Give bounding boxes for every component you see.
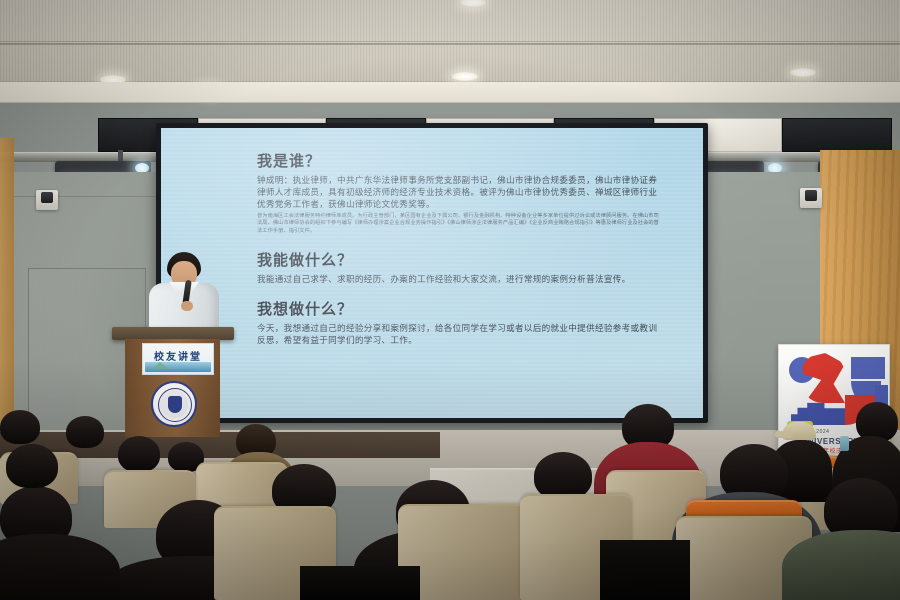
slide-heading-who-am-i: 我是谁？ (257, 150, 661, 171)
poster-anniversary-label: ANNIVERSARY (795, 437, 860, 446)
ceiling-seam (0, 43, 900, 44)
ceiling-acoustic-panel-upper (0, 0, 900, 42)
slide-body-what-can-i-do: 我能通过自己求学、求职的经历、办案的工作经验和大家交流，进行常规的案例分析普法宣… (257, 273, 661, 285)
projection-screen-frame: 我是谁？ 钟成明：执业律师，中共广东华法律师事务所党支部副书记，佛山市律协合规委… (156, 123, 708, 423)
auditorium-seat (214, 506, 336, 600)
slide-body-what-do-i-want: 今天，我想通过自己的经验分享和案例探讨，给各位同学在学习或者以后的就业中提供经验… (257, 322, 661, 346)
poster-tower-icon (875, 385, 888, 427)
audience-shoulders (782, 530, 900, 600)
audience-shoulders (108, 556, 284, 600)
presentation-slide: 我是谁？ 钟成明：执业律师，中共广东华法律师事务所党支部副书记，佛山市律协合规委… (161, 128, 703, 418)
poster-zh-label: 25周年校庆 (809, 446, 843, 455)
poster-years: 1999-2024 (801, 429, 829, 435)
lecture-hall-photo: 我是谁？ 钟成明：执业律师，中共广东华法律师事务所党支部副书记，佛山市律协合规委… (0, 0, 900, 600)
slide-heading-what-can-i-do: 我能做什么？ (257, 249, 661, 270)
university-seal-icon (151, 381, 197, 427)
wall-speaker-left (36, 190, 58, 210)
audience-shoulders (0, 534, 120, 600)
presenter-hand (181, 301, 193, 311)
slide-fineprint-who-am-i: 曾为南海区工会法律服务特约律师库成员。为行政主管部门、某区国有企业及下属公司、银… (257, 213, 661, 236)
podium-nameplate-graphic (145, 362, 211, 372)
projection-screen: 我是谁？ 钟成明：执业律师，中共广东华法律师事务所党支部副书记，佛山市律协合规委… (161, 128, 703, 418)
aisle-shadow (300, 566, 420, 600)
wall-speaker-right (800, 188, 822, 208)
ceiling-acoustic-panel-lower (0, 44, 900, 82)
podium-nameplate-text: 校友讲堂 (143, 348, 213, 363)
slide-body-who-am-i: 钟成明：执业律师，中共广东华法律师事务所党支部副书记，佛山市律协合规委委员，佛山… (257, 174, 661, 211)
speaker-grille (41, 192, 53, 203)
speaker-grille (805, 190, 817, 201)
ceiling-soffit (0, 82, 900, 103)
anniversary-poster: 1999-2024 ANNIVERSARY 25周年校庆 (778, 344, 890, 456)
seal-shield-icon (168, 396, 182, 413)
podium-body: 校友讲堂 (125, 339, 220, 437)
front-desk (430, 470, 660, 600)
poster-numeral-five-bowl (845, 395, 875, 425)
wall-seam (0, 196, 160, 197)
audience-shoulders (672, 492, 822, 600)
ceiling-downlight (790, 68, 816, 77)
podium: 校友讲堂 (118, 327, 228, 437)
audience-head (156, 500, 240, 570)
auditorium-seat (676, 516, 812, 600)
audience-head (824, 478, 898, 542)
auditorium-seat-cushion (686, 500, 802, 526)
audience-head (0, 486, 72, 548)
podium-nameplate: 校友讲堂 (142, 343, 214, 375)
slide-heading-what-do-i-want: 我想做什么？ (257, 298, 661, 319)
desk-name-tag (530, 495, 552, 502)
ac-vent (782, 118, 892, 152)
wood-trim-left (0, 138, 14, 438)
ceiling-downlight (452, 72, 478, 81)
presenter (143, 252, 225, 334)
poster-shape-rect (851, 357, 885, 379)
